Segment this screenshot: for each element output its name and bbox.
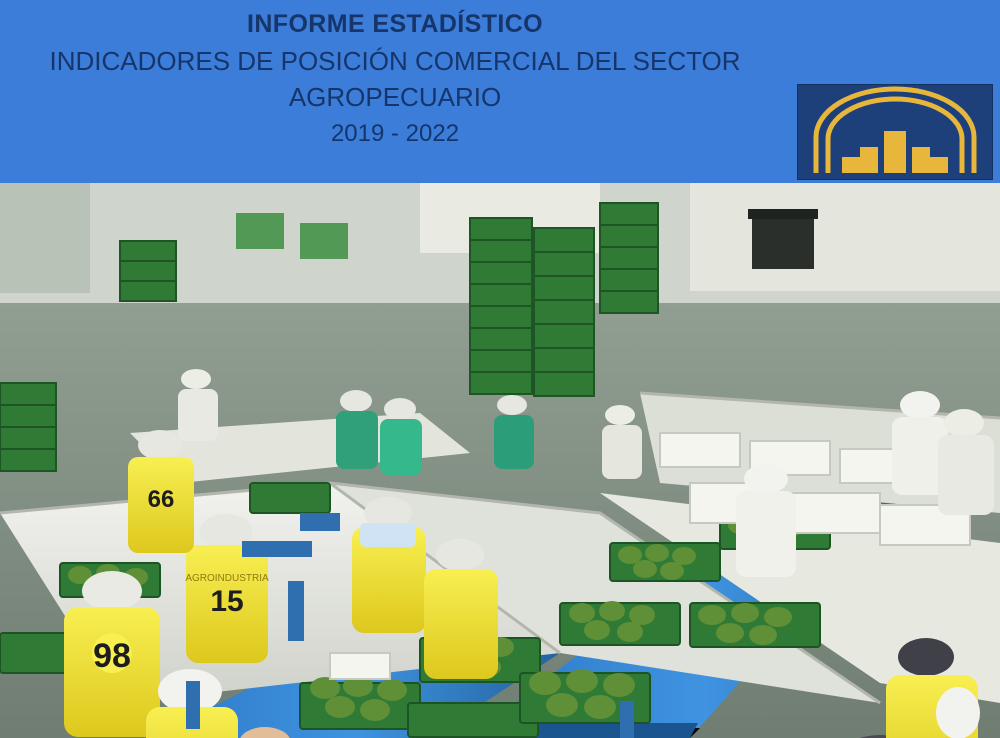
report-header-banner: INFORME ESTADÍSTICO INDICADORES DE POSIC… bbox=[0, 0, 1000, 183]
svg-text:66: 66 bbox=[148, 486, 175, 513]
stepped-arch-icon bbox=[798, 85, 992, 179]
svg-text:15: 15 bbox=[210, 585, 243, 618]
svg-text:AGROINDUSTRIA: AGROINDUSTRIA bbox=[185, 573, 269, 584]
institutional-logo bbox=[797, 84, 993, 180]
svg-text:98: 98 bbox=[93, 637, 131, 675]
report-cover-page: INFORME ESTADÍSTICO INDICADORES DE POSIC… bbox=[0, 0, 1000, 738]
page-title: INFORME ESTADÍSTICO bbox=[0, 8, 790, 40]
page-period: 2019 - 2022 bbox=[0, 117, 790, 151]
worker-upper-right bbox=[736, 464, 796, 577]
page-subtitle: INDICADORES DE POSICIÓN COMERCIAL DEL SE… bbox=[0, 43, 790, 115]
packing-plant-illustration: 98 15 AGROINDUSTRIA 66 bbox=[0, 183, 1000, 738]
report-title-block: INFORME ESTADÍSTICO INDICADORES DE POSIC… bbox=[0, 0, 790, 183]
cover-photograph: 98 15 AGROINDUSTRIA 66 bbox=[0, 183, 1000, 738]
